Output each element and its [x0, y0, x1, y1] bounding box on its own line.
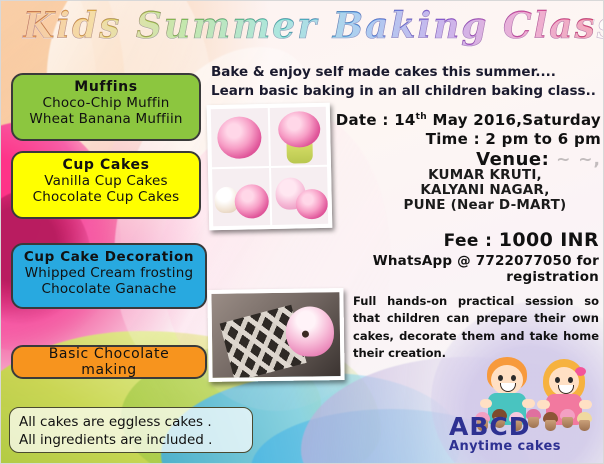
address-line-2: KALYANI NAGAR,	[371, 183, 599, 198]
fee-line: Fee : 1000 INR	[361, 229, 599, 251]
photo-cell	[212, 168, 270, 227]
notes-box: All cakes are eggless cakes . All ingred…	[9, 407, 253, 453]
category-item: Chocolate Cup Cakes	[19, 189, 193, 205]
eye	[511, 375, 516, 381]
category-item: Vanilla Cup Cakes	[19, 173, 193, 189]
time-line: Time : 2 pm to 6 pm	[301, 130, 601, 149]
page-title: Kids Summer Baking Classes	[23, 5, 593, 55]
eye	[498, 375, 503, 381]
date-rest: May 2016,Saturday	[433, 111, 601, 129]
pink-cupcake	[286, 306, 335, 357]
eye	[568, 377, 573, 383]
category-heading: Muffins	[19, 79, 193, 95]
category-card-cup-cake-decoration: Cup Cake Decoration Whipped Cream frosti…	[11, 243, 207, 309]
address-line-1: KUMAR KRUTI,	[371, 168, 599, 183]
date-suffix: th	[416, 112, 427, 122]
photo-chocolate-lattice	[207, 288, 344, 382]
brand-name: ABCD	[449, 415, 599, 439]
category-heading: Cup Cake Decoration	[19, 249, 199, 265]
hands-on-description: Full hands-on practical session so that …	[353, 293, 599, 362]
category-item: Choco-Chip Muffin	[19, 95, 193, 111]
date-line: Date : 14th May 2016,Saturday	[301, 111, 601, 130]
poster-canvas: Kids Summer Baking Classes Muffins Choco…	[0, 0, 604, 464]
intro-text: Bake & enjoy self made cakes this summer…	[211, 63, 601, 101]
eye	[555, 377, 560, 383]
note-line: All cakes are eggless cakes .	[19, 413, 243, 431]
date-value: 14	[394, 111, 415, 129]
category-item: Whipped Cream frosting	[19, 265, 199, 281]
venue-address: KUMAR KRUTI, KALYANI NAGAR, PUNE (Near D…	[371, 168, 599, 213]
date-label: Date :	[336, 111, 389, 129]
fee-value: 1000 INR	[499, 229, 599, 251]
category-heading: Cup Cakes	[19, 157, 193, 173]
category-card-muffins: Muffins Choco-Chip Muffin Wheat Banana M…	[11, 73, 201, 141]
category-card-cup-cakes: Cup Cakes Vanilla Cup Cakes Chocolate Cu…	[11, 151, 201, 219]
intro-line-2: Learn basic baking in an all children ba…	[211, 82, 601, 101]
category-heading: Basic Chocolate making	[19, 346, 199, 378]
category-item: Wheat Banana Muffiin	[19, 111, 193, 127]
whatsapp-line: WhatsApp @ 7722077050 for registration	[301, 253, 599, 285]
brand-logo: ABCD Anytime cakes	[449, 415, 599, 454]
photo-cell	[211, 108, 269, 167]
address-line-3: PUNE (Near D-MART)	[371, 198, 599, 213]
fee-label: Fee :	[444, 231, 493, 251]
intro-line-1: Bake & enjoy self made cakes this summer…	[211, 63, 601, 82]
brand-tagline: Anytime cakes	[449, 439, 599, 454]
category-item: Chocolate Ganache	[19, 281, 199, 297]
event-details-block: Date : 14th May 2016,Saturday Time : 2 p…	[301, 111, 604, 170]
category-card-basic-chocolate-making: Basic Chocolate making	[11, 345, 207, 379]
photo-cell	[271, 166, 329, 225]
note-line: All ingredients are included .	[19, 431, 243, 449]
